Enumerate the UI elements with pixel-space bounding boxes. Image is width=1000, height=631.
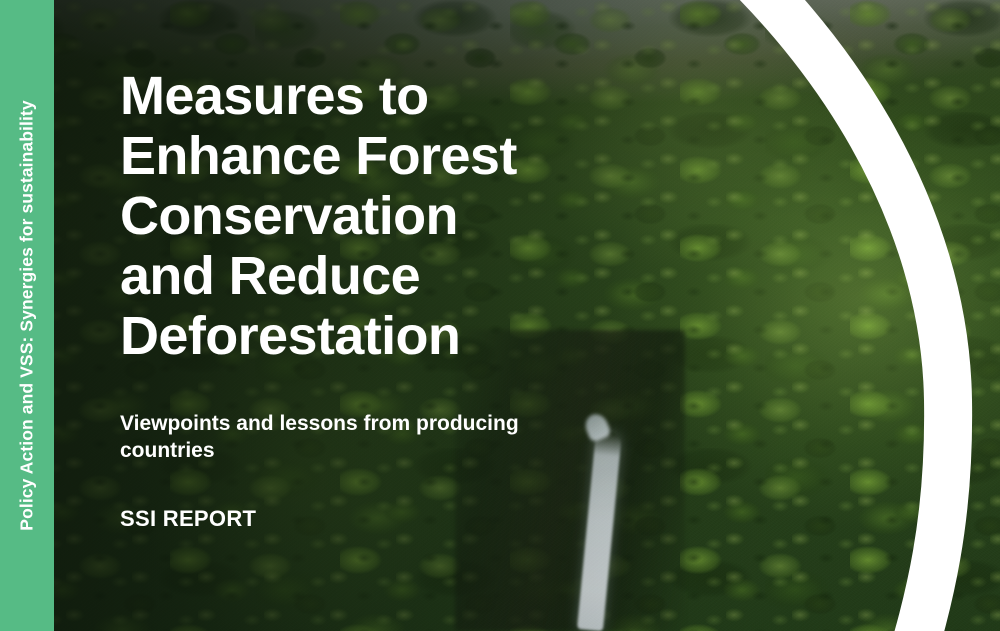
cover-title-line-3: Conservation bbox=[120, 186, 458, 246]
cover-title-line-4: and Reduce bbox=[120, 246, 420, 306]
cover-title: Measures to Enhance Forest Conservation … bbox=[120, 66, 550, 366]
cover-title-line-2: Enhance Forest bbox=[120, 126, 517, 186]
series-spine-label: Policy Action and VSS: Synergies for sus… bbox=[17, 100, 38, 530]
report-cover-page: Policy Action and VSS: Synergies for sus… bbox=[0, 0, 1000, 631]
cover-report-kicker: SSI REPORT bbox=[120, 506, 550, 532]
cover-subtitle: Viewpoints and lessons from producing co… bbox=[120, 410, 520, 464]
cover-title-line-5: Deforestation bbox=[120, 306, 460, 366]
cover-title-line-1: Measures to bbox=[120, 66, 429, 126]
series-spine: Policy Action and VSS: Synergies for sus… bbox=[0, 0, 54, 631]
cover-text-block: Measures to Enhance Forest Conservation … bbox=[120, 66, 550, 532]
